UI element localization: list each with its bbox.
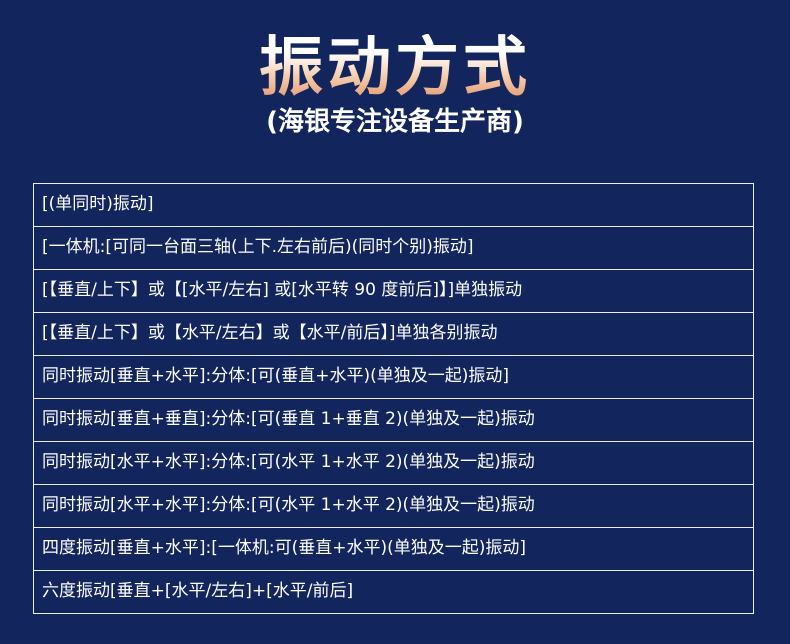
table-row: 同时振动[垂直+垂直]:分体:[可(垂直 1+垂直 2)(单独及一起)振动	[34, 399, 754, 442]
page-title: 振动方式	[259, 34, 531, 103]
page-subtitle: (海银专注设备生产商)	[0, 107, 790, 138]
table-cell-mode: [【垂直/上下】或【水平/左右】或【水平/前后】]单独各别振动	[34, 313, 754, 356]
vibration-modes-table: [(单同时)振动] [一体机:[可同一台面三轴(上下.左右前后)(同时个别)振动…	[33, 183, 754, 614]
table-cell-mode: [(单同时)振动]	[34, 184, 754, 227]
table-cell-mode: [一体机:[可同一台面三轴(上下.左右前后)(同时个别)振动]	[34, 227, 754, 270]
table-cell-mode: 同时振动[水平+水平]:分体:[可(水平 1+水平 2)(单独及一起)振动	[34, 485, 754, 528]
table-row: [(单同时)振动]	[34, 184, 754, 227]
table-cell-mode: [【垂直/上下】或【[水平/左右] 或[水平转 90 度前后]】]单独振动	[34, 270, 754, 313]
table-row: [一体机:[可同一台面三轴(上下.左右前后)(同时个别)振动]	[34, 227, 754, 270]
table-row: 六度振动[垂直+[水平/左右]+[水平/前后]	[34, 571, 754, 614]
table-cell-mode: 同时振动[水平+水平]:分体:[可(水平 1+水平 2)(单独及一起)振动	[34, 442, 754, 485]
table-row: 四度振动[垂直+水平]:[一体机:可(垂直+水平)(单独及一起)振动]	[34, 528, 754, 571]
vibration-modes-table-wrapper: [(单同时)振动] [一体机:[可同一台面三轴(上下.左右前后)(同时个别)振动…	[33, 183, 754, 614]
table-row: [【垂直/上下】或【[水平/左右] 或[水平转 90 度前后]】]单独振动	[34, 270, 754, 313]
table-cell-mode: 六度振动[垂直+[水平/左右]+[水平/前后]	[34, 571, 754, 614]
table-row: 同时振动[水平+水平]:分体:[可(水平 1+水平 2)(单独及一起)振动	[34, 485, 754, 528]
table-cell-mode: 同时振动[垂直+垂直]:分体:[可(垂直 1+垂直 2)(单独及一起)振动	[34, 399, 754, 442]
table-cell-mode: 四度振动[垂直+水平]:[一体机:可(垂直+水平)(单独及一起)振动]	[34, 528, 754, 571]
poster-root: 振动方式 (海银专注设备生产商) [(单同时)振动] [一体机:[可同一台面三轴…	[0, 0, 790, 644]
table-row: [【垂直/上下】或【水平/左右】或【水平/前后】]单独各别振动	[34, 313, 754, 356]
table-cell-mode: 同时振动[垂直+水平]:分体:[可(垂直+水平)(单独及一起)振动]	[34, 356, 754, 399]
table-row: 同时振动[水平+水平]:分体:[可(水平 1+水平 2)(单独及一起)振动	[34, 442, 754, 485]
table-row: 同时振动[垂直+水平]:分体:[可(垂直+水平)(单独及一起)振动]	[34, 356, 754, 399]
table-body: [(单同时)振动] [一体机:[可同一台面三轴(上下.左右前后)(同时个别)振动…	[34, 184, 754, 614]
poster-header: 振动方式 (海银专注设备生产商)	[0, 0, 790, 138]
